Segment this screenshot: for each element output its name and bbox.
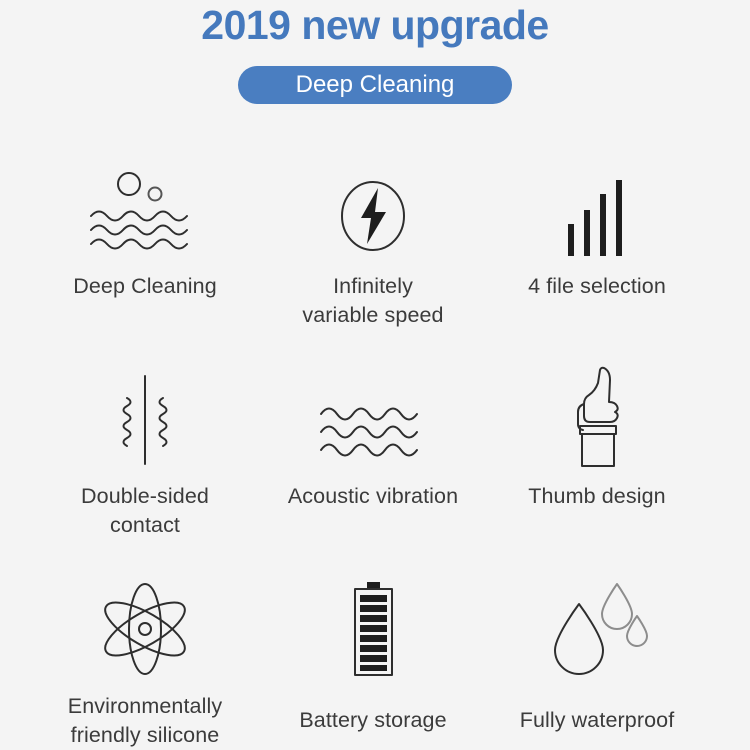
feature-thumb-design: Thumb design xyxy=(472,368,722,511)
feature-infinitely-variable-speed: Infinitely variable speed xyxy=(248,158,498,330)
feature-acoustic-vibration: Acoustic vibration xyxy=(248,368,498,511)
double-sided-contact-icon xyxy=(113,372,177,468)
feature-label: Thumb design xyxy=(472,482,722,511)
icon-container xyxy=(248,368,498,468)
deep-cleaning-badge: Deep Cleaning xyxy=(238,66,512,104)
feature-environmentally-friendly-silicone: Environmentally friendly silicone xyxy=(20,578,270,750)
feature-deep-cleaning: Deep Cleaning xyxy=(20,158,270,301)
icon-container xyxy=(472,368,722,468)
feature-label-line2: variable speed xyxy=(248,301,498,330)
atom-icon xyxy=(95,580,195,678)
icon-container xyxy=(248,158,498,258)
feature-label: 4 file selection xyxy=(472,272,722,301)
icon-container xyxy=(20,158,270,258)
page-title: 2019 new upgrade xyxy=(0,2,750,48)
feature-fully-waterproof: Fully waterproof xyxy=(472,578,722,735)
thumbs-up-icon xyxy=(562,364,632,468)
feature-double-sided-contact: Double-sided contact xyxy=(20,368,270,540)
feature-label: Double-sided contact xyxy=(20,482,270,540)
feature-label: Environmentally friendly silicone xyxy=(20,692,270,750)
icon-container xyxy=(472,578,722,678)
feature-label: Infinitely variable speed xyxy=(248,272,498,330)
feature-label-line1: Environmentally xyxy=(20,692,270,721)
feature-label-line2: friendly silicone xyxy=(20,721,270,750)
battery-full-icon xyxy=(346,582,400,678)
feature-label: Fully waterproof xyxy=(472,706,722,735)
icon-container xyxy=(20,578,270,678)
lightning-bolt-circle-icon xyxy=(331,172,415,258)
icon-container xyxy=(472,158,722,258)
feature-label: Acoustic vibration xyxy=(248,482,498,511)
feature-label-line1: Infinitely xyxy=(248,272,498,301)
icon-container xyxy=(248,578,498,678)
icon-container xyxy=(20,368,270,468)
signal-bars-icon xyxy=(566,178,628,258)
feature-label-line1: Double-sided xyxy=(20,482,270,511)
water-droplets-icon xyxy=(545,582,649,678)
feature-battery-storage: Battery storage xyxy=(248,578,498,735)
feature-grid: Deep Cleaning Infinitely variable speed … xyxy=(0,140,750,750)
feature-label: Deep Cleaning xyxy=(20,272,270,301)
water-waves-bubbles-icon xyxy=(83,168,207,258)
feature-label-line2: contact xyxy=(20,511,270,540)
feature-label: Battery storage xyxy=(248,706,498,735)
sound-waves-icon xyxy=(317,392,429,468)
header: 2019 new upgrade Deep Cleaning xyxy=(0,0,750,130)
feature-file-selection: 4 file selection xyxy=(472,158,722,301)
